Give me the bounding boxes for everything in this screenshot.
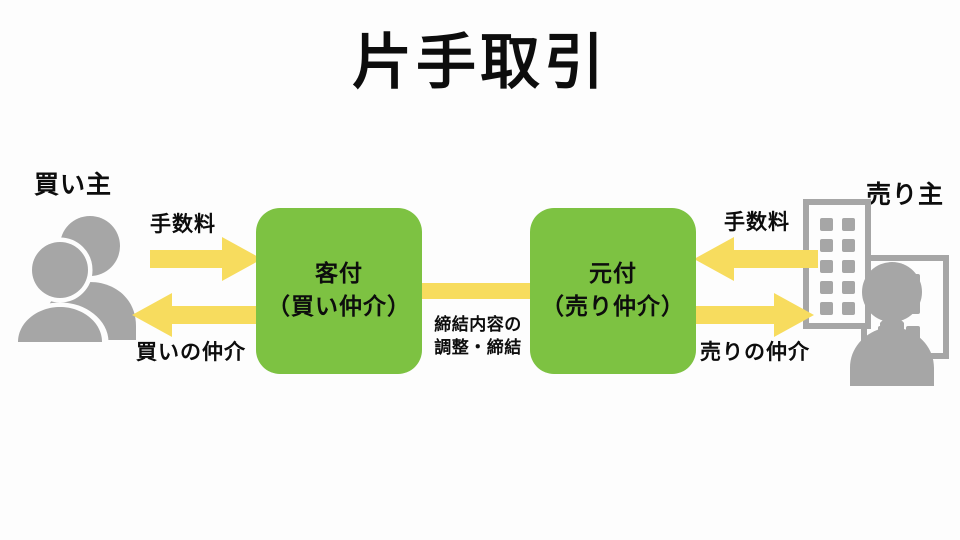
brokerage-left-arrow bbox=[132, 293, 262, 337]
agents-connector-label-line2: 調整・締結 bbox=[418, 337, 538, 360]
seller-building-person-icon bbox=[798, 196, 960, 390]
agents-connector-label-line1: 締結内容の bbox=[418, 314, 538, 337]
agent-box-kyakuzuke-name: 客付 bbox=[315, 258, 363, 291]
slide-canvas: 片手取引 bbox=[0, 0, 960, 540]
agent-box-motozuke-name: 元付 bbox=[589, 258, 637, 291]
buyer-people-icon bbox=[14, 214, 144, 346]
agent-box-motozuke-subtitle: （売り仲介） bbox=[541, 291, 685, 324]
brokerage-left-label: 買いの仲介 bbox=[136, 336, 246, 366]
page-title: 片手取引 bbox=[0, 30, 960, 96]
agents-connector-label: 締結内容の 調整・締結 bbox=[418, 314, 538, 360]
fee-right-label: 手数料 bbox=[724, 206, 790, 236]
agent-box-kyakuzuke-subtitle: （買い仲介） bbox=[267, 291, 411, 324]
agent-box-kyakuzuke[interactable]: 客付 （買い仲介） bbox=[256, 208, 422, 374]
agent-box-motozuke[interactable]: 元付 （売り仲介） bbox=[530, 208, 696, 374]
fee-left-label: 手数料 bbox=[150, 208, 216, 238]
brokerage-right-arrow bbox=[690, 293, 814, 337]
agents-connector-bar bbox=[414, 283, 542, 299]
brokerage-right-label: 売りの仲介 bbox=[700, 336, 810, 366]
fee-left-arrow bbox=[150, 237, 262, 281]
buyer-label: 買い主 bbox=[34, 165, 112, 201]
fee-right-arrow bbox=[694, 237, 818, 281]
